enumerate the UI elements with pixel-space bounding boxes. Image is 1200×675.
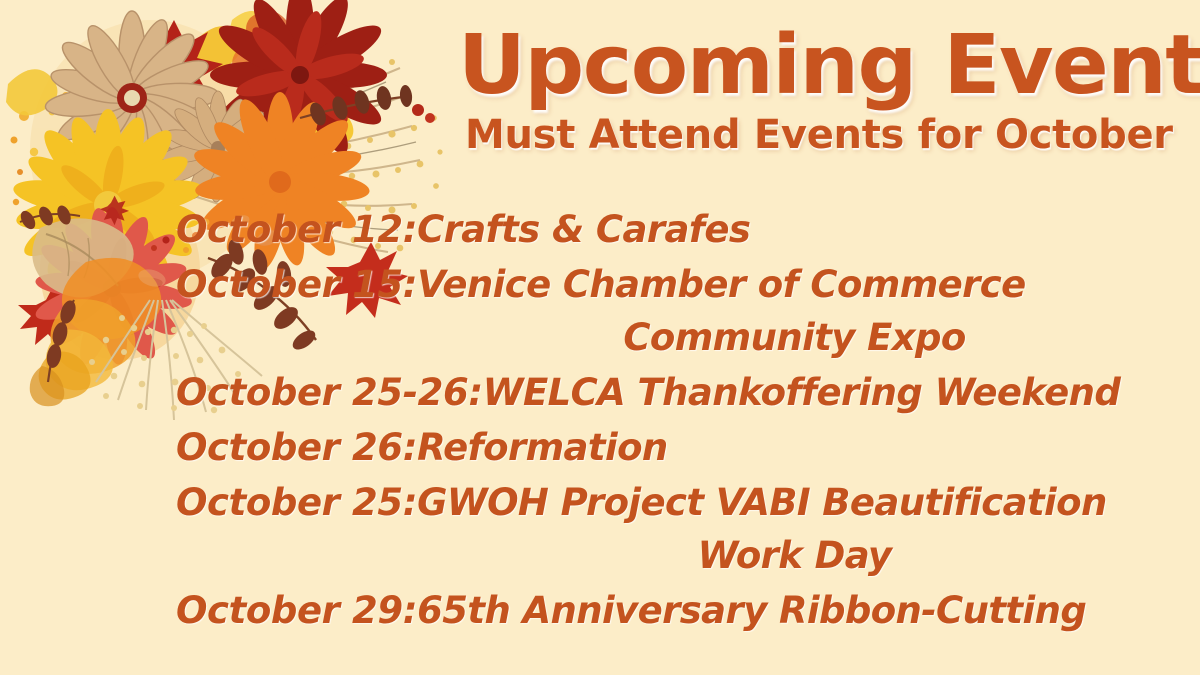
event-row: October 26: Reformation (0, 421, 1200, 474)
event-name-line-1: Reformation (417, 421, 1172, 474)
page-title: Upcoming Events (458, 26, 1172, 106)
event-name-line-1: Venice Chamber of Commerce (417, 258, 1172, 311)
event-name: Crafts & Carafes (417, 203, 1200, 256)
event-row: October 29: 65th Anniversary Ribbon-Cutt… (0, 584, 1200, 637)
event-row: October 25-26: WELCA Thankoffering Weeke… (0, 366, 1200, 419)
tan-daisy (44, 11, 219, 186)
event-name-line-2: Community Expo (417, 311, 1172, 364)
orange-leaves-right (232, 10, 294, 89)
event-name-line-1: 65th Anniversary Ribbon-Cutting (417, 584, 1172, 637)
event-slide: Upcoming Events Must Attend Events for O… (0, 0, 1200, 675)
event-name-line-2: Work Day (417, 529, 1172, 582)
event-name-line-1: GWOH Project VABI Beautification (417, 476, 1172, 529)
event-date: October 26: (0, 421, 417, 474)
paint-speckles-left (11, 92, 71, 205)
dark-red-dahlia (210, 0, 388, 168)
event-name: Reformation (417, 421, 1200, 474)
event-row: October 12: Crafts & Carafes (0, 203, 1200, 256)
small-tan-daisy (160, 91, 275, 204)
brown-seed-pod-sprig-upper (300, 84, 435, 127)
event-name: GWOH Project VABI Beautification Work Da… (417, 476, 1200, 582)
background-leaves (6, 11, 353, 160)
event-date: October 29: (0, 584, 417, 637)
page-subtitle: Must Attend Events for October (465, 114, 1165, 156)
event-row: October 15: Venice Chamber of Commerce C… (0, 258, 1200, 364)
event-date: October 12: (0, 203, 417, 256)
event-name: WELCA Thankoffering Weekend (483, 366, 1200, 419)
event-date: October 15: (0, 258, 417, 311)
event-name-line-1: WELCA Thankoffering Weekend (483, 366, 1172, 419)
events-list: October 12: Crafts & Carafes October 15:… (0, 203, 1200, 639)
event-name: Venice Chamber of Commerce Community Exp… (417, 258, 1200, 364)
event-date: October 25: (0, 476, 417, 529)
event-name: 65th Anniversary Ribbon-Cutting (417, 584, 1200, 637)
event-row: October 25: GWOH Project VABI Beautifica… (0, 476, 1200, 582)
event-name-line-1: Crafts & Carafes (417, 203, 1172, 256)
heading-block: Upcoming Events Must Attend Events for O… (465, 26, 1165, 156)
event-date: October 25-26: (0, 366, 483, 419)
